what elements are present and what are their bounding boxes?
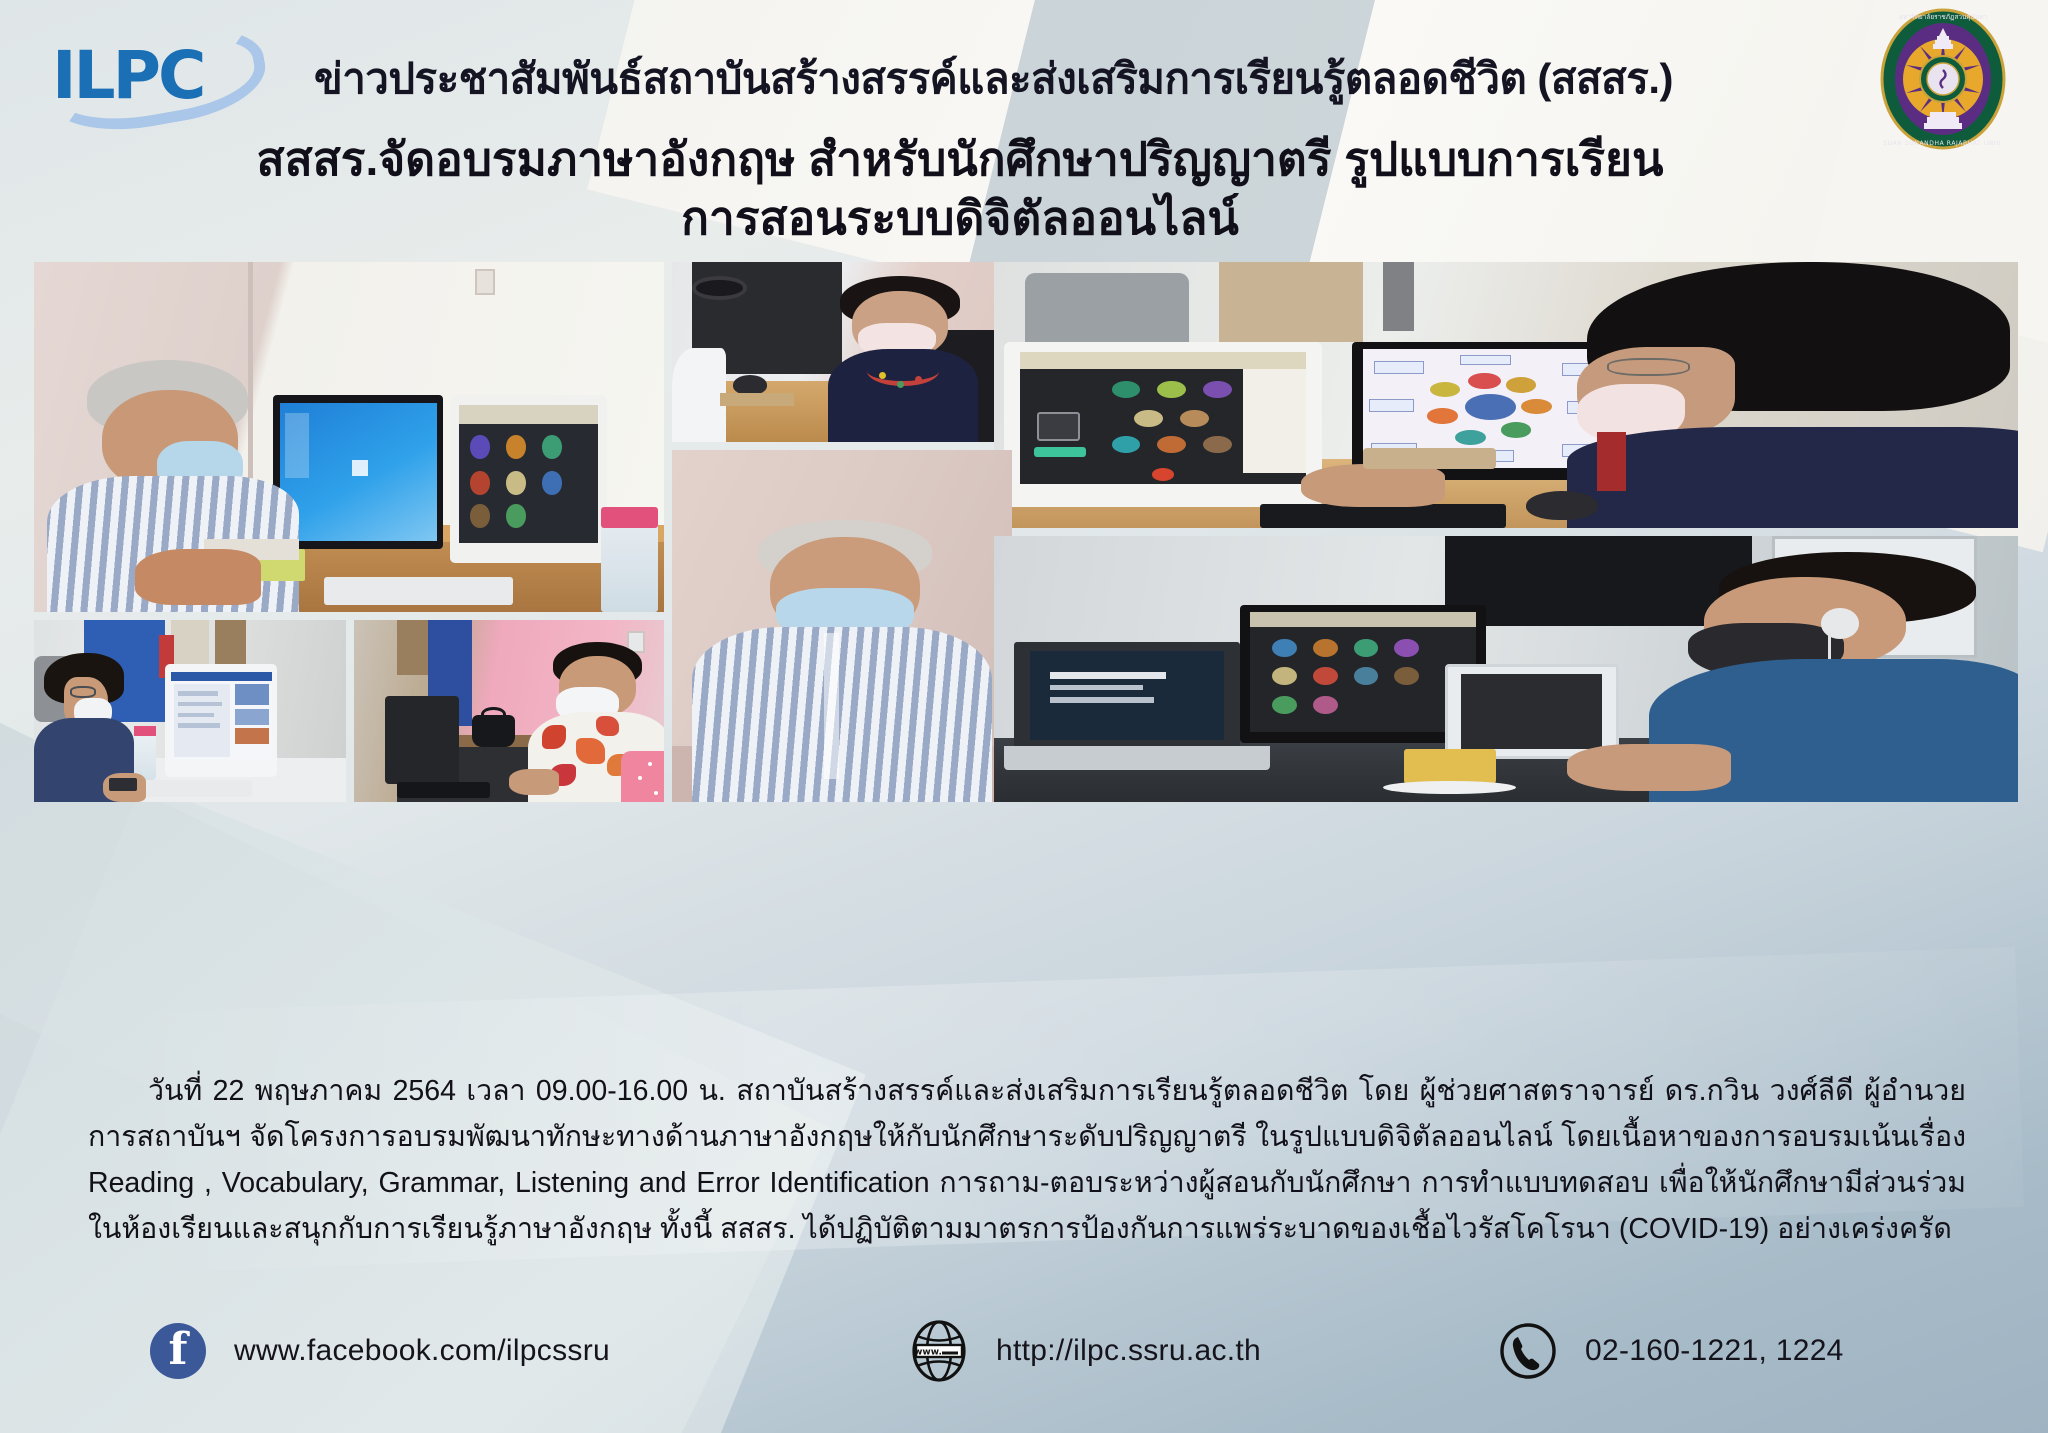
poster-canvas: ILPC ข่าวประชาสัมพันธ์สถาบันสร้างสรรค์แล… bbox=[0, 0, 2048, 1433]
globe-www-icon: www. bbox=[910, 1320, 968, 1382]
paragraph-text: วันที่ 22 พฤษภาคม 2564 เวลา 09.00-16.00 … bbox=[88, 1075, 1966, 1245]
seal-outer-text-en: SUAN SUNANDHA RAJABHAT UNIV. bbox=[1883, 140, 2002, 147]
poster-title-line-1: สสสร.จัดอบรมภาษาอังกฤษ สำหรับนักศึกษาปริ… bbox=[120, 130, 1800, 189]
svg-text:www.: www. bbox=[914, 1347, 942, 1357]
footer-website[interactable]: www. http://ilpc.ssru.ac.th bbox=[910, 1320, 1261, 1382]
photo-1 bbox=[34, 262, 664, 612]
photo-3 bbox=[994, 262, 2018, 528]
header-subtitle: ข่าวประชาสัมพันธ์สถาบันสร้างสรรค์และส่งเ… bbox=[314, 46, 1673, 112]
facebook-icon bbox=[150, 1323, 206, 1379]
photo-collage bbox=[34, 262, 2018, 802]
photo-5 bbox=[994, 536, 2018, 802]
seal-outer-text-th: มหาวิทยาลัยราชภัฏสวนสุนันทา bbox=[1899, 13, 1988, 21]
ilpc-logo: ILPC bbox=[44, 31, 274, 127]
photo-7 bbox=[354, 620, 664, 802]
suan-sunandha-rajabhat-university-seal: มหาวิทยาลัยราชภัฏสวนสุนันทา SUAN SUNANDH… bbox=[1880, 8, 2006, 150]
poster-footer: www.facebook.com/ilpcssru www. http://il… bbox=[150, 1313, 1910, 1389]
poster-title-line-2: การสอนระบบดิจิตัลออนไลน์ bbox=[120, 189, 1800, 248]
website-url: http://ilpc.ssru.ac.th bbox=[996, 1334, 1261, 1368]
photo-4 bbox=[672, 450, 1012, 802]
footer-phone[interactable]: 02-160-1221, 1224 bbox=[1499, 1322, 1844, 1380]
facebook-url: www.facebook.com/ilpcssru bbox=[234, 1334, 610, 1368]
photo-6 bbox=[34, 620, 346, 802]
logo-wordmark: ILPC bbox=[52, 43, 203, 109]
phone-number: 02-160-1221, 1224 bbox=[1585, 1334, 1844, 1368]
poster-title: สสสร.จัดอบรมภาษาอังกฤษ สำหรับนักศึกษาปริ… bbox=[120, 130, 1800, 248]
photo-2 bbox=[672, 262, 1012, 442]
phone-icon bbox=[1499, 1322, 1557, 1380]
poster-header: ILPC ข่าวประชาสัมพันธ์สถาบันสร้างสรรค์แล… bbox=[44, 24, 2004, 134]
footer-facebook[interactable]: www.facebook.com/ilpcssru bbox=[150, 1323, 610, 1379]
body-paragraph: วันที่ 22 พฤษภาคม 2564 เวลา 09.00-16.00 … bbox=[88, 1068, 1966, 1253]
